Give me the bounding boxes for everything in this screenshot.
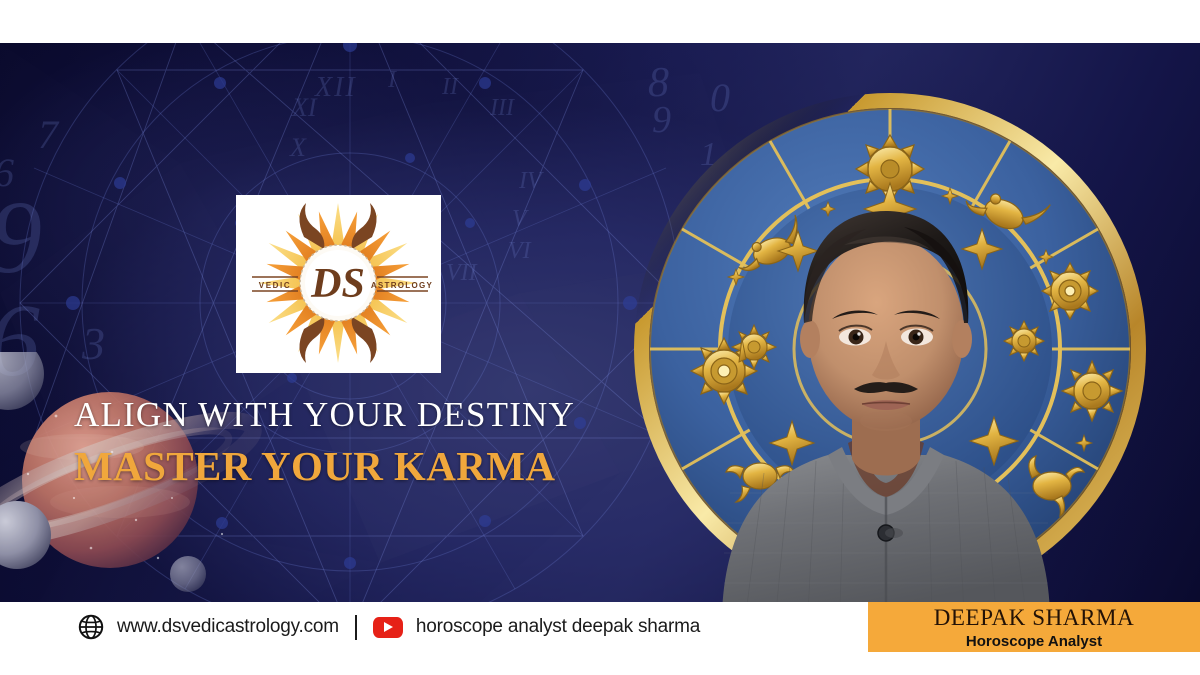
logo-monogram: DS	[310, 261, 365, 307]
logo-word-astrology: ASTROLOGY	[371, 281, 433, 290]
roman-numeral-x: X	[290, 135, 306, 161]
ds-vedic-astrology-logo: DS VEDIC ASTROLOGY	[236, 195, 441, 373]
bg-numeral-9: 9	[0, 186, 42, 290]
roman-numeral-vii: VII	[446, 261, 477, 285]
roman-numeral-vi: VI	[508, 239, 531, 263]
roman-numeral-iv: IV	[519, 169, 542, 193]
roman-numeral-iii: III	[490, 96, 514, 120]
footer-bar: www.dsvedicastrology.com horoscope analy…	[0, 602, 1200, 675]
roman-numeral-ii: II	[442, 75, 458, 99]
youtube-channel-name[interactable]: horoscope analyst deepak sharma	[416, 616, 700, 638]
website-url[interactable]: www.dsvedicastrology.com	[117, 616, 339, 638]
logo-card: DS VEDIC ASTROLOGY	[236, 195, 441, 373]
badge-role: Horoscope Analyst	[966, 634, 1102, 649]
headline-line-2: MASTER YOUR KARMA	[74, 441, 694, 492]
footer-divider	[355, 615, 357, 640]
headline-line-1: ALIGN WITH YOUR DESTINY	[74, 395, 694, 435]
portrait-deepak-sharma	[716, 193, 1056, 602]
bg-numeral-6: 6	[0, 289, 40, 393]
banner-background: XII I II III IV V VI VII XI X 7 6 9 6 3 …	[0, 43, 1200, 602]
roman-numeral-v: V	[512, 207, 527, 231]
bg-numeral-3: 3	[82, 321, 105, 367]
banner-image: XII I II III IV V VI VII XI X 7 6 9 6 3 …	[0, 0, 1200, 675]
roman-numeral-xii: XII	[315, 74, 357, 102]
headline-block: ALIGN WITH YOUR DESTINY MASTER YOUR KARM…	[74, 395, 694, 493]
logo-word-vedic: VEDIC	[259, 281, 291, 290]
badge-name: DEEPAK SHARMA	[934, 606, 1135, 629]
youtube-icon[interactable]	[373, 617, 403, 638]
footer-contact-group: www.dsvedicastrology.com horoscope analy…	[78, 602, 700, 652]
bg-numeral-7: 7	[38, 115, 58, 155]
roman-numeral-i: I	[388, 68, 396, 92]
globe-icon	[78, 614, 104, 640]
bg-numeral-6b: 6	[0, 153, 14, 193]
roman-numeral-xi: XI	[292, 95, 317, 121]
name-badge: DEEPAK SHARMA Horoscope Analyst	[868, 602, 1200, 652]
